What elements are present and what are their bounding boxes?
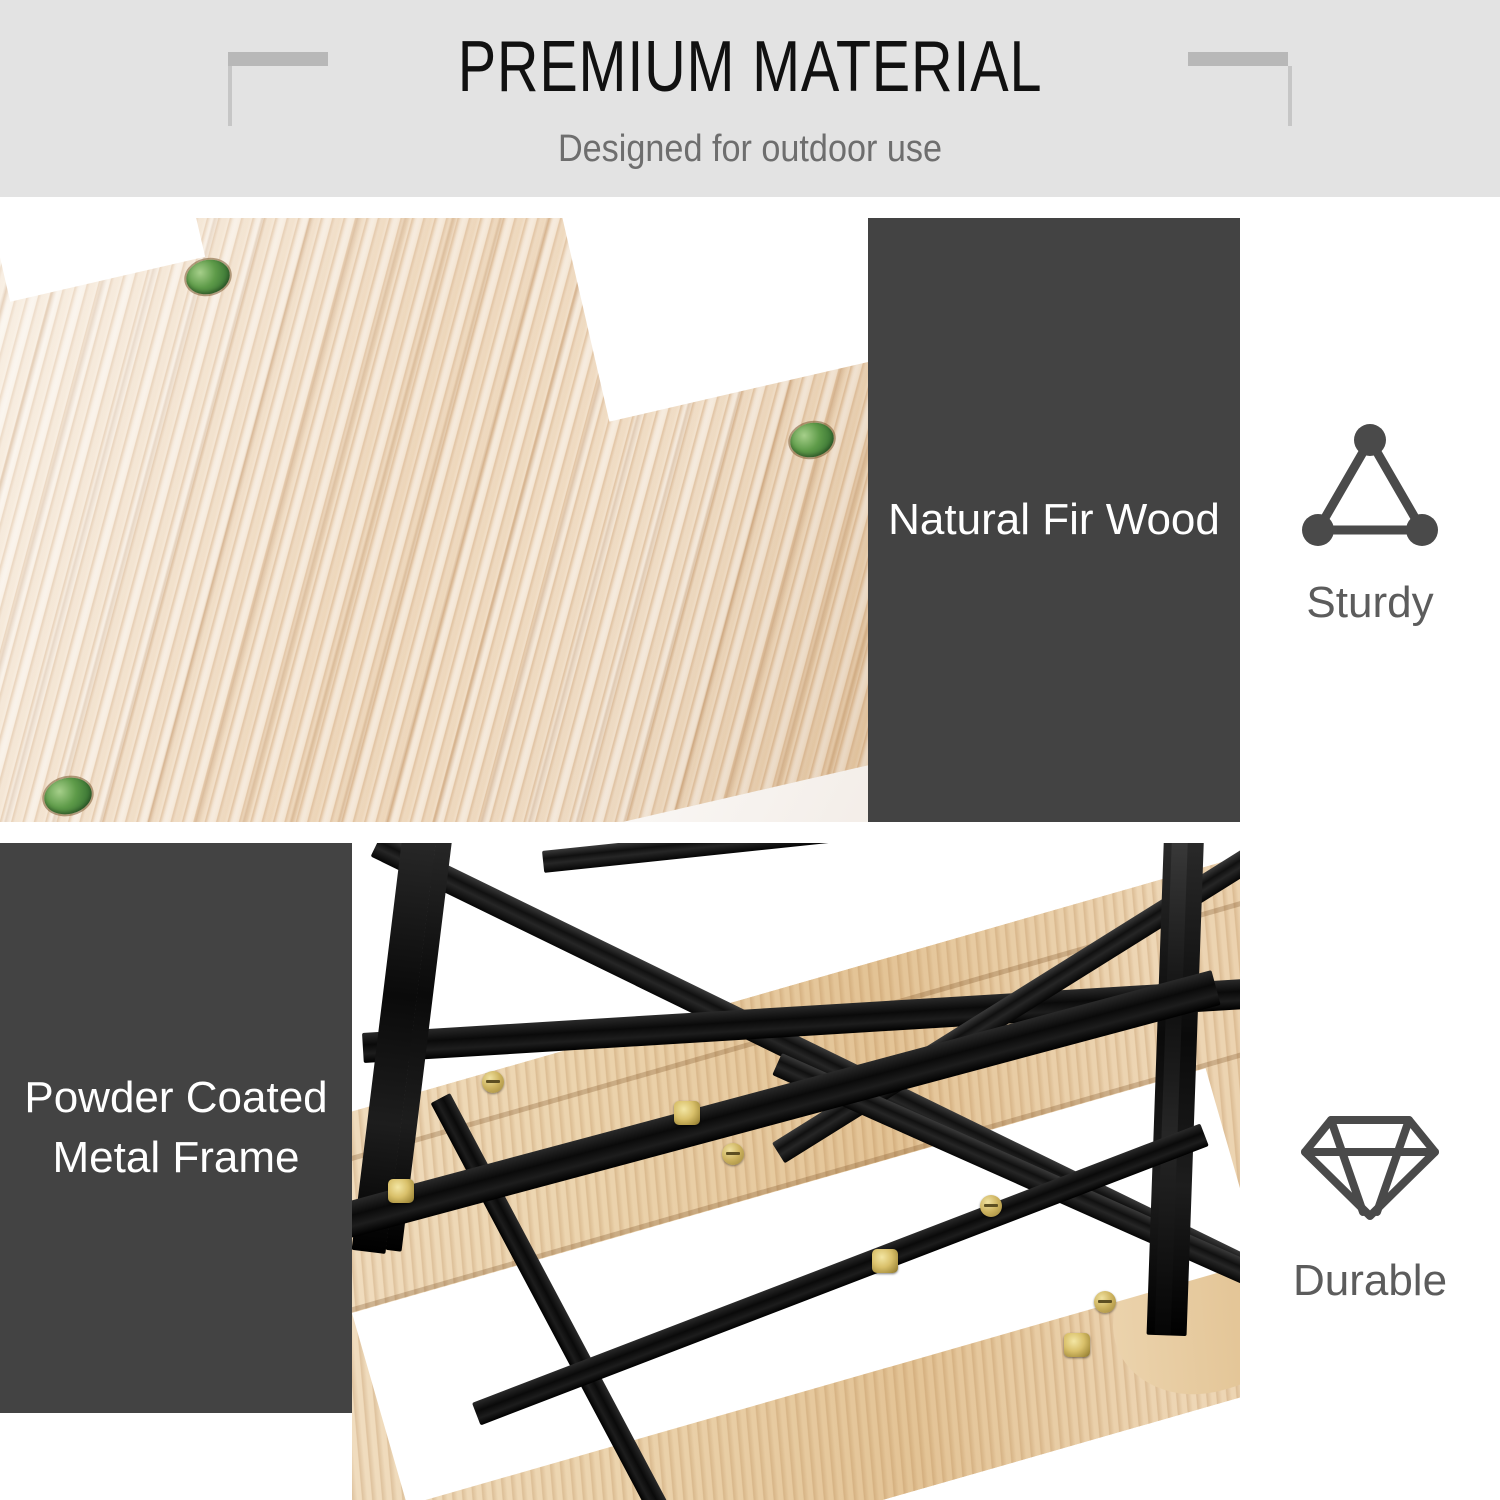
caption-panel-label: Natural Fir Wood <box>874 490 1234 550</box>
metal-frame-photo <box>352 843 1240 1500</box>
decoration-stem-icon <box>1288 66 1292 126</box>
hex-bolt-icon <box>872 1249 898 1273</box>
phillips-screw-icon <box>722 1143 744 1165</box>
metal-brace-diagonal <box>542 843 1240 873</box>
section-natural-fir-wood: Natural Fir Wood Sturdy <box>0 218 1500 822</box>
diamond-gem-icon <box>1295 1100 1445 1230</box>
hex-bolt-icon <box>674 1101 700 1125</box>
section-powder-coated-metal-frame: Powder Coated Metal Frame <box>0 843 1500 1500</box>
caption-panel-natural-fir-wood: Natural Fir Wood <box>868 218 1240 822</box>
hex-bolt-icon <box>1064 1333 1090 1357</box>
caption-panel-label: Powder Coated Metal Frame <box>0 1068 352 1188</box>
infographic-page: PREMIUM MATERIAL Designed for outdoor us… <box>0 0 1500 1500</box>
feature-label-durable: Durable <box>1293 1256 1447 1306</box>
page-title: PREMIUM MATERIAL <box>150 28 1350 106</box>
feature-durable: Durable <box>1240 1053 1500 1353</box>
header-band: PREMIUM MATERIAL Designed for outdoor us… <box>0 0 1500 197</box>
wood-closeup-photo <box>0 218 868 822</box>
title-decoration-right <box>1188 52 1292 132</box>
triangle-nodes-icon <box>1295 412 1445 552</box>
phillips-screw-icon <box>1094 1291 1116 1313</box>
feature-sturdy: Sturdy <box>1240 218 1500 822</box>
decoration-bar-icon <box>1188 52 1288 66</box>
page-subtitle: Designed for outdoor use <box>75 126 1425 172</box>
hex-bolt-icon <box>388 1179 414 1203</box>
caption-panel-powder-coated-metal-frame: Powder Coated Metal Frame <box>0 843 352 1413</box>
phillips-screw-icon <box>980 1195 1002 1217</box>
phillips-screw-icon <box>482 1071 504 1093</box>
feature-label-sturdy: Sturdy <box>1306 578 1433 628</box>
